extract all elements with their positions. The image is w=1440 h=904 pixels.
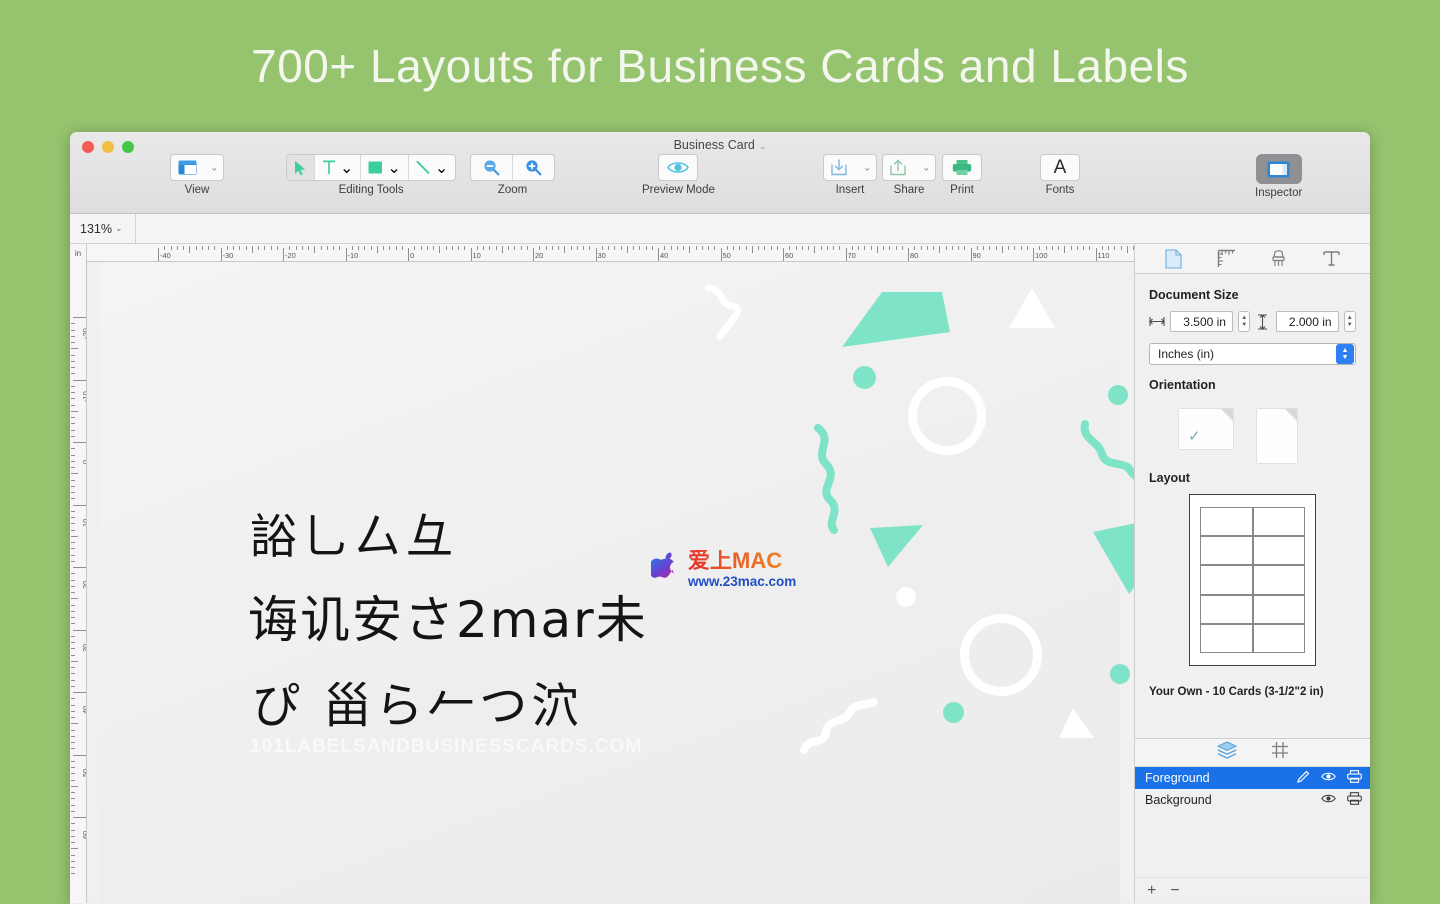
ruler-tick-minor — [71, 723, 78, 724]
ruler-tick-minor — [502, 246, 503, 253]
toolbar: ⌄ View — [70, 154, 1370, 214]
ruler-tick-minor — [796, 246, 797, 250]
ruler-tick-minor — [864, 246, 865, 250]
document-height-stepper[interactable]: ▲▼ — [1344, 311, 1356, 332]
canvas-scroll-region[interactable]: 䛦乚厶彑 诲讥安さ2mar未 ぴ 甾ら𠂉つ泬 101LABELSANDBUSIN… — [87, 262, 1134, 903]
ruler-label: 100 — [1035, 251, 1048, 260]
ruler-tick-minor — [71, 480, 75, 481]
watermark-text-block: 爱上MAC www.23mac.com — [688, 550, 796, 589]
document-body: in -40-30-20-100102030405060708090100110… — [70, 244, 1370, 903]
ruler-tick — [221, 248, 222, 262]
inspector-tabs — [1135, 244, 1370, 274]
ruler-tick-minor — [71, 736, 75, 737]
decorative-wave-white-1 — [700, 284, 760, 342]
ruler-tick-minor — [327, 246, 328, 250]
ruler-tick-minor — [771, 246, 772, 250]
ruler-tick-minor — [71, 705, 75, 706]
ruler-tick-minor — [564, 246, 565, 253]
ruler-tick — [908, 248, 909, 262]
zoom-out-icon — [483, 159, 500, 176]
promo-headline: 700+ Layouts for Business Cards and Labe… — [0, 0, 1440, 132]
ruler-tick-minor — [446, 246, 447, 250]
layout-heading: Layout — [1149, 471, 1356, 485]
print-layer-icon[interactable] — [1347, 792, 1362, 808]
ruler-tick-minor — [352, 246, 353, 250]
eye-icon — [667, 160, 689, 175]
ruler-tick-minor — [508, 246, 509, 250]
ruler-tick-minor — [302, 246, 303, 250]
layout-grid — [1200, 507, 1305, 654]
ruler-label: 80 — [910, 251, 918, 260]
inspector-panel: Document Size 3.500 in ▲▼ 2.000 in — [1134, 244, 1370, 903]
ruler-tick-minor — [383, 246, 384, 250]
ruler-tick-minor — [71, 767, 75, 768]
ruler-label: 90 — [973, 251, 981, 260]
fonts-button[interactable]: A — [1040, 154, 1080, 181]
ruler-tick-minor — [71, 686, 75, 687]
inspector-button[interactable] — [1256, 154, 1302, 184]
ruler-tick-minor — [1058, 246, 1059, 250]
inspector-label: Inspector — [1255, 187, 1302, 199]
apple-logo-icon — [651, 552, 681, 586]
ruler-tick-minor — [71, 698, 75, 699]
share-button[interactable]: ⌄ — [882, 154, 936, 181]
document-width-input[interactable]: 3.500 in — [1170, 311, 1233, 332]
ruler-tick-minor — [927, 246, 928, 250]
ruler-tick-minor — [558, 246, 559, 250]
ruler-tick-minor — [983, 246, 984, 250]
ruler-tick-minor — [71, 830, 75, 831]
ruler-tick-minor — [239, 246, 240, 250]
ruler-tick — [1096, 248, 1097, 262]
select-arrow-tool-button[interactable] — [287, 155, 315, 180]
ruler-tick-minor — [608, 246, 609, 250]
ruler-tick — [533, 248, 534, 262]
layer-actions — [1297, 770, 1362, 786]
decorative-dot-teal-4 — [943, 702, 964, 723]
ruler-tick — [73, 567, 86, 568]
grid-icon — [1271, 741, 1289, 759]
card-glyph-line-1[interactable]: 䛦乚厶彑 — [250, 498, 458, 567]
inspector-tab-text[interactable] — [1319, 248, 1345, 270]
ruler-tick-minor — [989, 246, 990, 250]
stepper-up-icon: ▲ — [1241, 315, 1247, 322]
ruler-tick-minor — [333, 246, 334, 250]
decorative-squiggle-white-1 — [800, 694, 878, 756]
ruler-tick — [73, 630, 86, 631]
ruler-tick-minor — [71, 348, 78, 349]
text-tool-chevron-down-icon[interactable]: ⌄ — [340, 158, 353, 178]
toolbar-group-preview-mode: Preview Mode — [642, 154, 715, 196]
zoom-level-value: 131% — [80, 222, 112, 236]
ruler-tick-minor — [71, 492, 75, 493]
text-tool-button[interactable]: ⌄ — [315, 155, 361, 180]
ruler-tick-minor — [296, 246, 297, 250]
filled-square-icon — [368, 160, 383, 175]
page-dogear-icon — [1285, 409, 1297, 421]
zoom-out-button[interactable] — [471, 155, 513, 180]
ruler-tick-minor — [71, 486, 75, 487]
orientation-landscape-option[interactable]: ✓ — [1179, 409, 1233, 449]
unit-select-chevron-icon: ▲▼ — [1336, 344, 1354, 364]
view-chevron-down-icon[interactable]: ⌄ — [210, 162, 218, 173]
layout-cell — [1200, 565, 1253, 594]
ruler-label: 30 — [598, 251, 606, 260]
add-layer-button[interactable]: + — [1147, 882, 1156, 900]
ruler-label: 110 — [1098, 251, 1110, 260]
ruler-tick-minor — [314, 246, 315, 253]
ruler-tick-minor — [633, 246, 634, 250]
toolbar-group-insert: ⌄ Insert — [823, 154, 877, 196]
printer-icon — [952, 159, 972, 176]
ruler-tick-minor — [71, 461, 75, 462]
window-layout-icon — [178, 160, 197, 175]
ruler-tick-minor — [1089, 246, 1090, 250]
ruler-tick-minor — [71, 430, 75, 431]
ruler-tick-minor — [583, 246, 584, 250]
ruler-tick-minor — [521, 246, 522, 250]
ruler-tick-minor — [871, 246, 872, 250]
ruler-tick-minor — [464, 246, 465, 250]
ruler-tick-minor — [71, 867, 75, 868]
layer-row-background[interactable]: Background — [1135, 789, 1370, 811]
toolbar-group-view: ⌄ View — [170, 154, 224, 196]
layout-cell — [1200, 507, 1253, 536]
ruler-tick-minor — [758, 246, 759, 250]
ruler-tick-minor — [1014, 246, 1015, 250]
ruler-tick-minor — [696, 246, 697, 250]
ruler-label: -10 — [348, 251, 359, 260]
toolbar-group-zoom: Zoom — [470, 154, 555, 196]
text-tool-icon — [322, 160, 336, 175]
ruler-tick-minor — [71, 605, 75, 606]
decorative-dot-teal-2 — [1108, 385, 1128, 405]
ruler-label: 60 — [785, 251, 793, 260]
ruler-tick-minor — [389, 246, 390, 250]
ruler-tick-minor — [852, 246, 853, 250]
document-height-input[interactable]: 2.000 in — [1276, 311, 1339, 332]
ruler-tick-minor — [1133, 246, 1134, 250]
zoom-in-button[interactable] — [513, 155, 554, 180]
ruler-tick-minor — [939, 246, 940, 253]
inspector-panel-icon — [1267, 161, 1290, 178]
diagonal-line-icon — [416, 160, 431, 175]
ruler-tick-minor — [1121, 246, 1122, 250]
stepper-down-icon: ▼ — [1347, 322, 1353, 329]
layer-row-foreground[interactable]: Foreground — [1135, 767, 1370, 789]
ruler-tick-minor — [71, 798, 75, 799]
ruler-tick — [846, 248, 847, 262]
visibility-eye-icon[interactable] — [1321, 771, 1336, 785]
ruler-tick-minor — [71, 673, 75, 674]
ruler-tick-minor — [246, 246, 247, 250]
text-icon — [1322, 249, 1341, 268]
share-upload-icon — [890, 159, 906, 176]
stepper-up-icon: ▲ — [1347, 315, 1353, 322]
ruler-tick — [408, 248, 409, 262]
layers-tabs — [1135, 739, 1370, 767]
orientation-portrait-option[interactable] — [1257, 409, 1297, 463]
ruler-tick-minor — [727, 246, 728, 250]
ruler-tick-minor — [602, 246, 603, 250]
ruler-tick-minor — [1114, 246, 1115, 250]
fonts-glyph-icon: A — [1054, 158, 1067, 177]
ruler-tick-minor — [71, 511, 75, 512]
ruler-tick-minor — [71, 455, 75, 456]
ruler-tick-minor — [71, 730, 75, 731]
layout-cell — [1253, 507, 1306, 536]
ruler-tick-minor — [652, 246, 653, 250]
ruler-tick-minor — [1108, 246, 1109, 250]
ruler-tick-minor — [452, 246, 453, 250]
ruler-unit-label: in — [70, 244, 87, 262]
layer-actions — [1321, 792, 1362, 808]
grid-tab[interactable] — [1271, 741, 1289, 764]
print-button[interactable] — [942, 154, 982, 181]
ruler-tick-minor — [752, 246, 753, 253]
ruler-tick-minor — [71, 655, 75, 656]
ruler-tick-minor — [71, 617, 75, 618]
ruler-tick-minor — [733, 246, 734, 250]
ruler-tick-minor — [514, 246, 515, 250]
height-dimension-icon — [1255, 314, 1270, 330]
ruler-label: -30 — [223, 251, 234, 260]
inspector-tab-document[interactable] — [1160, 248, 1186, 270]
ruler-tick-minor — [889, 246, 890, 250]
ruler-tick-minor — [71, 498, 75, 499]
shape-tool-button[interactable]: ⌄ — [361, 155, 408, 180]
ruler-tick — [73, 817, 86, 818]
ruler-tick-minor — [552, 246, 553, 250]
editing-tools-label: Editing Tools — [286, 184, 456, 196]
layout-cell — [1200, 624, 1253, 653]
ruler-label: -40 — [160, 251, 171, 260]
width-dimension-icon — [1149, 316, 1165, 327]
ruler-tick — [721, 248, 722, 262]
ruler-tick-minor — [71, 636, 75, 637]
line-tool-chevron-down-icon[interactable]: ⌄ — [435, 158, 448, 178]
ruler-tick — [73, 380, 86, 381]
ruler-tick-minor — [214, 246, 215, 250]
ruler-tick-minor — [233, 246, 234, 250]
ruler-tick-minor — [71, 792, 75, 793]
ruler-tick-minor — [271, 246, 272, 250]
document-size-heading: Document Size — [1149, 288, 1356, 302]
ruler-tick — [471, 248, 472, 262]
ruler-tick-minor — [71, 842, 75, 843]
toolbar-group-fonts: A Fonts — [1040, 154, 1080, 196]
layer-label: Foreground — [1145, 771, 1297, 785]
ruler-tick-minor — [71, 555, 75, 556]
ruler-tick-minor — [577, 246, 578, 250]
ruler-tick-minor — [1083, 246, 1084, 250]
shape-tool-chevron-down-icon[interactable]: ⌄ — [387, 158, 400, 178]
print-label: Print — [942, 184, 982, 196]
ruler-tick-minor — [71, 761, 75, 762]
ruler-tick-minor — [1039, 246, 1040, 250]
ruler-tick-minor — [258, 246, 259, 250]
remove-layer-button[interactable]: − — [1170, 882, 1179, 900]
decorative-triangle-white-2 — [1053, 707, 1095, 739]
ruler-tick-minor — [71, 530, 75, 531]
line-tool-button[interactable]: ⌄ — [409, 155, 455, 180]
ruler-tick-minor — [1008, 246, 1009, 250]
ruler-tick-minor — [1127, 246, 1128, 253]
ruler-tick-minor — [739, 246, 740, 250]
ruler-tick-minor — [71, 573, 75, 574]
ruler-tick-minor — [71, 592, 75, 593]
site-watermark: 爱上MAC www.23mac.com — [651, 550, 796, 589]
ruler-tick-minor — [1077, 246, 1078, 250]
edit-pencil-icon[interactable] — [1297, 770, 1310, 786]
decorative-triangle-white-1 — [1008, 287, 1056, 332]
business-card-artwork[interactable]: 䛦乚厶彑 诲讥安さ2mar未 ぴ 甾ら𠂉つ泬 101LABELSANDBUSIN… — [100, 262, 1120, 903]
brush-icon — [1269, 249, 1288, 268]
card-glyph-line-2[interactable]: 诲讥安さ2mar未 — [248, 580, 648, 652]
insert-label: Insert — [823, 184, 877, 196]
ruler-tick-minor — [208, 246, 209, 250]
horizontal-ruler[interactable]: -40-30-20-100102030405060708090100110120 — [70, 244, 1134, 262]
toolbar-group-inspector: Inspector — [1255, 154, 1302, 199]
zoom-level-control[interactable]: 131%⌄ — [70, 214, 136, 244]
ruler-tick-minor — [1027, 246, 1028, 250]
watermark-brand: 爱上MAC — [688, 550, 796, 572]
card-glyph-line-3[interactable]: ぴ 甾ら𠂉つ泬 — [252, 666, 583, 736]
ruler-tick-minor — [264, 246, 265, 250]
layout-cell — [1253, 595, 1306, 624]
ruler-tick-minor — [396, 246, 397, 250]
ruler-tick-minor — [1064, 246, 1065, 253]
ruler-tick-minor — [71, 773, 75, 774]
ruler-tick — [596, 248, 597, 262]
ruler-tick-minor — [802, 246, 803, 250]
decorative-squiggle-teal-1 — [812, 424, 907, 534]
layers-footer: + − — [1135, 877, 1370, 903]
ruler-tick-minor — [71, 361, 75, 362]
ruler-tick-minor — [196, 246, 197, 250]
ruler-tick-minor — [71, 667, 75, 668]
ruler-tick-minor — [71, 523, 75, 524]
ruler-tick-minor — [458, 246, 459, 250]
canvas-area[interactable]: in -40-30-20-100102030405060708090100110… — [70, 244, 1134, 903]
window-title-text: Business Card — [674, 138, 755, 152]
ruler-tick-minor — [71, 861, 75, 862]
ruler-tick-minor — [71, 330, 75, 331]
ruler-label: 10 — [473, 251, 481, 260]
ruler-tick-minor — [489, 246, 490, 250]
ruler-tick-minor — [202, 246, 203, 250]
watermark-url: www.23mac.com — [688, 575, 796, 589]
ruler-tick-minor — [289, 246, 290, 250]
print-layer-icon[interactable] — [1347, 770, 1362, 786]
ruler-tick-minor — [933, 246, 934, 250]
insert-chevron-down-icon[interactable]: ⌄ — [863, 162, 871, 173]
layer-label: Background — [1145, 793, 1321, 807]
ruler-tick-minor — [414, 246, 415, 250]
card-faint-url-text: 101LABELSANDBUSINESSCARDS.COM — [250, 736, 642, 758]
ruler-tick-minor — [377, 246, 378, 253]
decorative-triangle-teal-1 — [870, 524, 925, 568]
inspector-content: Document Size 3.500 in ▲▼ 2.000 in — [1135, 274, 1370, 738]
ruler-tick-minor — [71, 848, 78, 849]
ruler-tick-minor — [71, 648, 75, 649]
ruler-tick-minor — [71, 642, 75, 643]
orientation-options: ✓ — [1149, 401, 1356, 463]
ruler-tick-minor — [71, 786, 78, 787]
ruler-icon — [1217, 249, 1236, 268]
toolbar-group-editing-tools: ⌄ ⌄ ⌄ — [286, 154, 456, 196]
decorative-dot-white-1 — [896, 587, 916, 607]
ruler-tick-minor — [71, 811, 75, 812]
ruler-tick-minor — [764, 246, 765, 250]
ruler-tick-minor — [708, 246, 709, 250]
ruler-tick-minor — [71, 823, 75, 824]
ruler-tick-minor — [252, 246, 253, 253]
ruler-tick-minor — [71, 680, 75, 681]
ruler-tick — [346, 248, 347, 262]
share-chevron-down-icon[interactable]: ⌄ — [922, 162, 930, 173]
zoom-chevron-down-icon[interactable]: ⌄ — [115, 223, 123, 234]
ruler-tick — [73, 317, 86, 318]
inspector-tab-ruler[interactable] — [1213, 248, 1239, 270]
ruler-tick-minor — [814, 246, 815, 253]
ruler-tick-minor — [958, 246, 959, 250]
ruler-tick-minor — [896, 246, 897, 250]
inspector-tab-brush[interactable] — [1266, 248, 1292, 270]
ruler-tick-minor — [877, 246, 878, 253]
vertical-ruler[interactable]: -20-100102030405060 — [70, 262, 87, 903]
ruler-tick — [73, 442, 86, 443]
layers-tab[interactable] — [1217, 741, 1237, 764]
share-label: Share — [882, 184, 936, 196]
ruler-tick-minor — [71, 711, 75, 712]
ruler-tick-minor — [902, 246, 903, 250]
window-title-chevron-down-icon[interactable]: ⌄ — [759, 141, 767, 151]
ruler-tick-minor — [71, 548, 75, 549]
ruler-tick-minor — [71, 473, 78, 474]
orientation-selected-check-icon: ✓ — [1188, 427, 1201, 445]
ruler-tick-minor — [946, 246, 947, 250]
visibility-eye-icon[interactable] — [1321, 793, 1336, 807]
ruler-label: 50 — [723, 251, 731, 260]
ruler-label: 70 — [848, 251, 856, 260]
layout-preview[interactable] — [1189, 494, 1316, 666]
ruler-tick-minor — [71, 417, 75, 418]
ruler-tick-minor — [689, 246, 690, 253]
decorative-ring-white-2 — [960, 614, 1042, 696]
ruler-tick — [783, 248, 784, 262]
ruler-tick-minor — [996, 246, 997, 250]
cursor-arrow-icon — [294, 160, 307, 176]
decorative-quad-teal-1 — [1093, 520, 1134, 596]
ruler-tick-minor — [171, 246, 172, 250]
view-button[interactable]: ⌄ — [170, 154, 224, 181]
ruler-tick-minor — [614, 246, 615, 250]
preview-mode-button[interactable] — [658, 154, 698, 181]
ruler-tick-minor — [227, 246, 228, 250]
decorative-ring-white-1 — [908, 377, 986, 455]
ruler-tick-minor — [671, 246, 672, 250]
ruler-tick-minor — [1021, 246, 1022, 250]
fonts-label: Fonts — [1040, 184, 1080, 196]
unit-select[interactable]: Inches (in) ▲▼ — [1149, 343, 1356, 365]
insert-button[interactable]: ⌄ — [823, 154, 877, 181]
ruler-tick-minor — [321, 246, 322, 250]
ruler-tick-minor — [371, 246, 372, 250]
chevron-up-icon: ▲ — [1342, 347, 1349, 354]
ruler-tick-minor — [402, 246, 403, 250]
document-width-stepper[interactable]: ▲▼ — [1238, 311, 1250, 332]
